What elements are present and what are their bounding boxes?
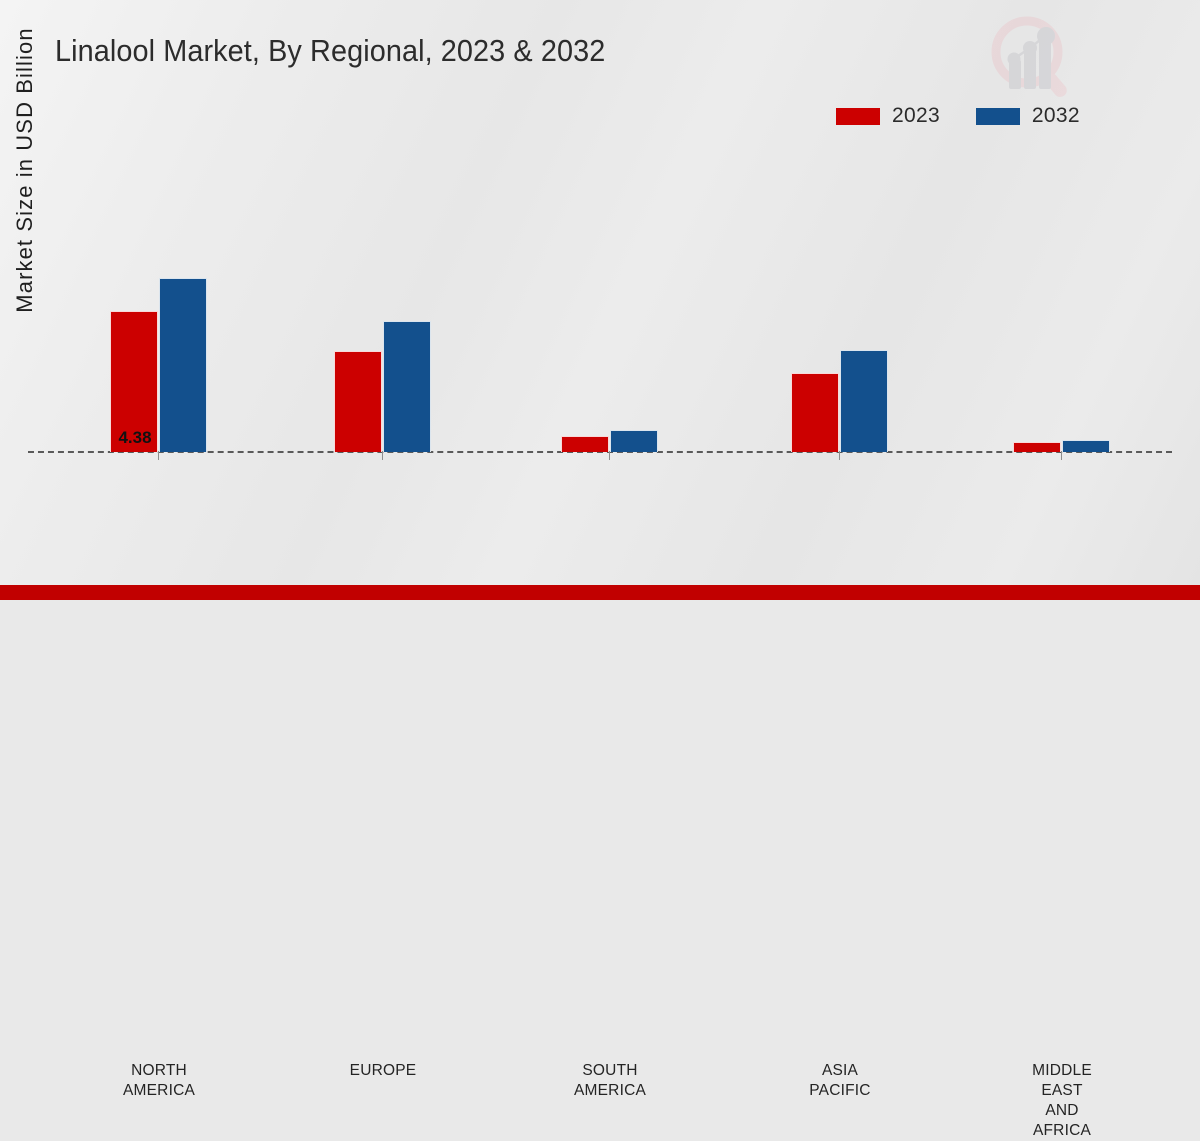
bar-middle-east-and-africa-2023[interactable]	[1013, 442, 1061, 452]
bar-south-america-2023[interactable]	[561, 436, 609, 452]
chart-canvas: Linalool Market, By Regional, 2023 & 203…	[0, 0, 1200, 600]
bar-middle-east-and-africa-2032[interactable]	[1062, 440, 1110, 452]
x-tick-asia-pacific	[839, 451, 840, 460]
bar-asia-pacific-2023[interactable]	[791, 373, 839, 452]
bar-north-america-2023[interactable]: 4.38	[110, 311, 158, 452]
x-label-middle-east-and-africa: MIDDLE EAST AND AFRICA	[972, 1061, 1152, 1141]
x-tick-middle-east-and-africa	[1061, 451, 1062, 460]
x-label-south-america: SOUTH AMERICA	[520, 1061, 700, 1101]
bar-europe-2023[interactable]	[334, 351, 382, 452]
bar-europe-2032[interactable]	[383, 321, 431, 452]
bar-asia-pacific-2032[interactable]	[840, 350, 888, 452]
footer-accent-bar	[0, 585, 1200, 600]
x-tick-north-america	[158, 451, 159, 460]
bar-north-america-2032[interactable]	[159, 278, 207, 452]
bar-south-america-2032[interactable]	[610, 430, 658, 452]
bar-value-north-america-2023: 4.38	[109, 428, 161, 448]
x-label-north-america: NORTH AMERICA	[69, 1061, 249, 1101]
x-label-europe: EUROPE	[293, 1061, 473, 1081]
plot-area: 4.38 NORTH AMERICA EUROPE SOUTH	[0, 0, 1200, 600]
x-tick-south-america	[609, 451, 610, 460]
x-tick-europe	[382, 451, 383, 460]
x-label-asia-pacific: ASIA PACIFIC	[750, 1061, 930, 1101]
